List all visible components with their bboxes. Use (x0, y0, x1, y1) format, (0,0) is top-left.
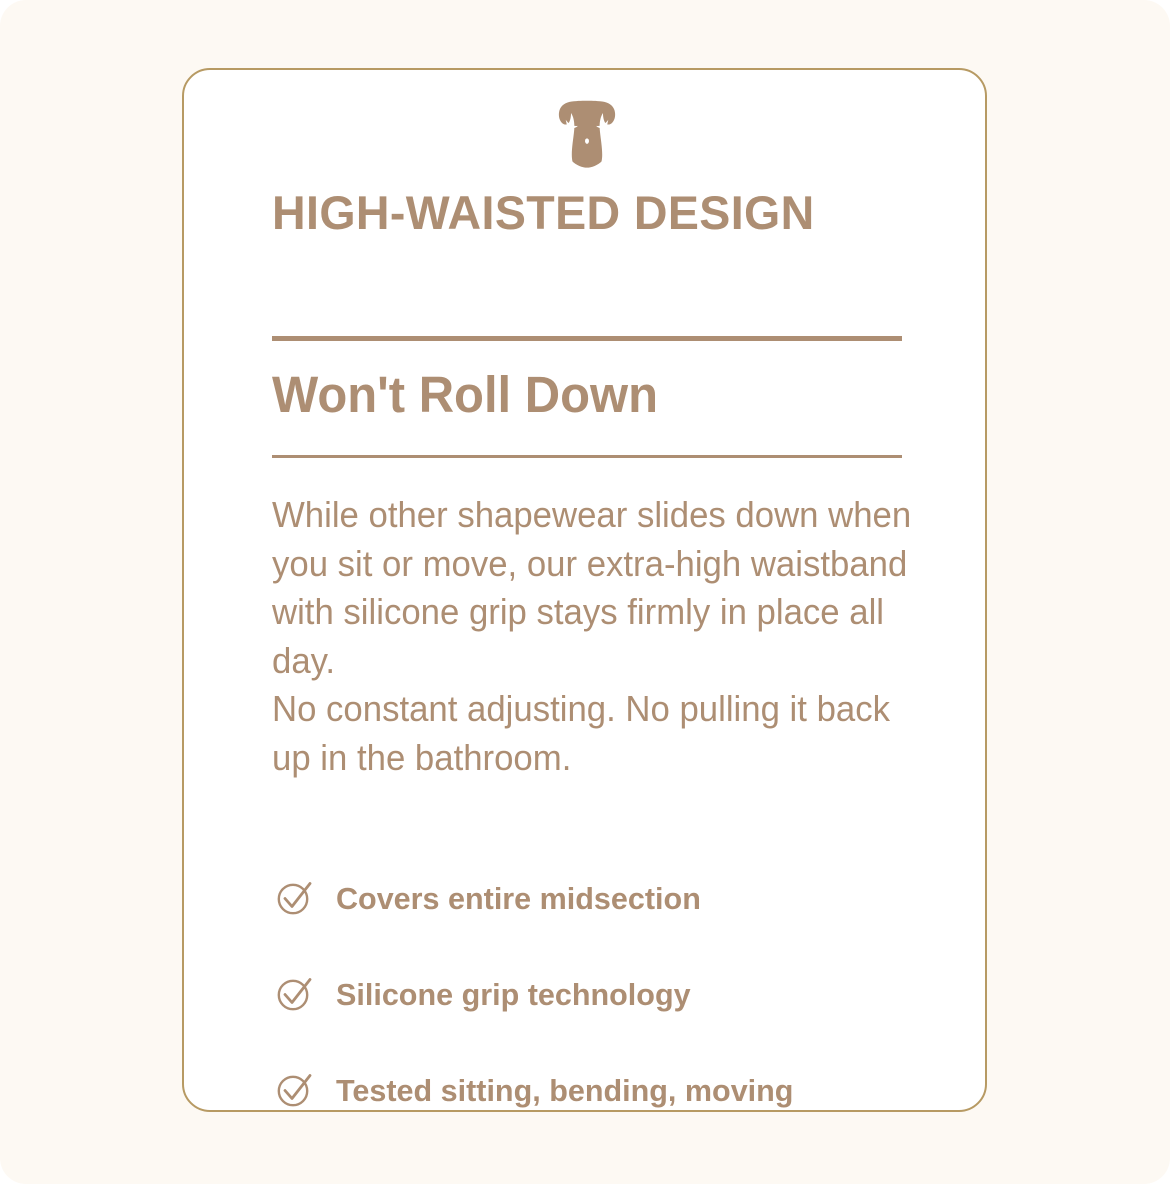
benefit-list: Covers entire midsection Silicone grip t… (274, 872, 954, 1116)
circled-check-icon (274, 974, 314, 1014)
torso-silhouette-icon (549, 97, 625, 173)
torso-icon-container (272, 97, 902, 173)
list-item: Tested sitting, bending, moving (274, 1064, 954, 1116)
card-headline: Won't Roll Down (272, 369, 877, 420)
body-paragraph-2: No constant adjusting. No pulling it bac… (272, 685, 919, 782)
circled-check-icon (274, 878, 314, 918)
circled-check-icon (274, 1070, 314, 1110)
body-paragraph-1: While other shapewear slides down when y… (272, 491, 919, 685)
divider-thin (272, 455, 902, 458)
card-eyebrow-title: HIGH-WAISTED DESIGN (272, 189, 896, 236)
feature-card: HIGH-WAISTED DESIGN Won't Roll Down Whil… (182, 68, 987, 1112)
list-item: Silicone grip technology (274, 968, 954, 1020)
benefit-label: Covers entire midsection (336, 883, 701, 914)
divider-thick (272, 336, 902, 341)
list-item: Covers entire midsection (274, 872, 954, 924)
benefit-label: Tested sitting, bending, moving (336, 1075, 793, 1106)
card-body-copy: While other shapewear slides down when y… (272, 491, 919, 782)
benefit-label: Silicone grip technology (336, 979, 691, 1010)
page-canvas: HIGH-WAISTED DESIGN Won't Roll Down Whil… (0, 0, 1170, 1184)
